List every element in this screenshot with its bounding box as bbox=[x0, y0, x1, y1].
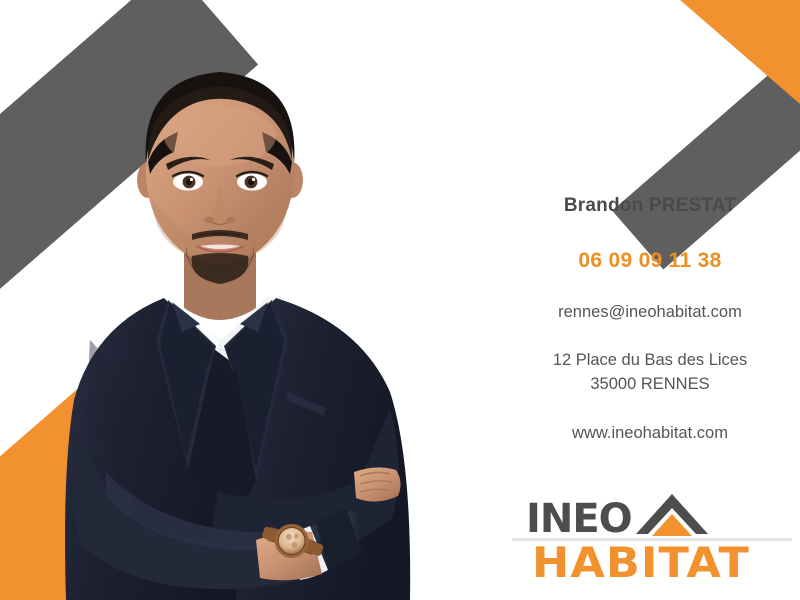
contact-name: Brandon PRESTAT bbox=[500, 195, 800, 217]
logo-word-ineo: INEO bbox=[526, 495, 632, 543]
portrait-photo bbox=[60, 40, 500, 600]
contact-website[interactable]: www.ineohabitat.com bbox=[500, 424, 800, 443]
address-line-2: 35000 RENNES bbox=[500, 373, 800, 397]
contact-info-panel: Brandon PRESTAT 06 09 09 11 38 rennes@in… bbox=[500, 195, 800, 443]
contact-address: 12 Place du Bas des Lices 35000 RENNES bbox=[500, 349, 800, 397]
address-line-1: 12 Place du Bas des Lices bbox=[500, 349, 800, 373]
business-card: Brandon PRESTAT 06 09 09 11 38 rennes@in… bbox=[0, 0, 800, 600]
company-logo: INEO HABITAT bbox=[512, 492, 792, 592]
contact-email[interactable]: rennes@ineohabitat.com bbox=[500, 303, 800, 322]
contact-phone[interactable]: 06 09 09 11 38 bbox=[500, 249, 800, 273]
orange-corner-triangle bbox=[680, 0, 800, 104]
logo-word-habitat: HABITAT bbox=[532, 540, 750, 586]
